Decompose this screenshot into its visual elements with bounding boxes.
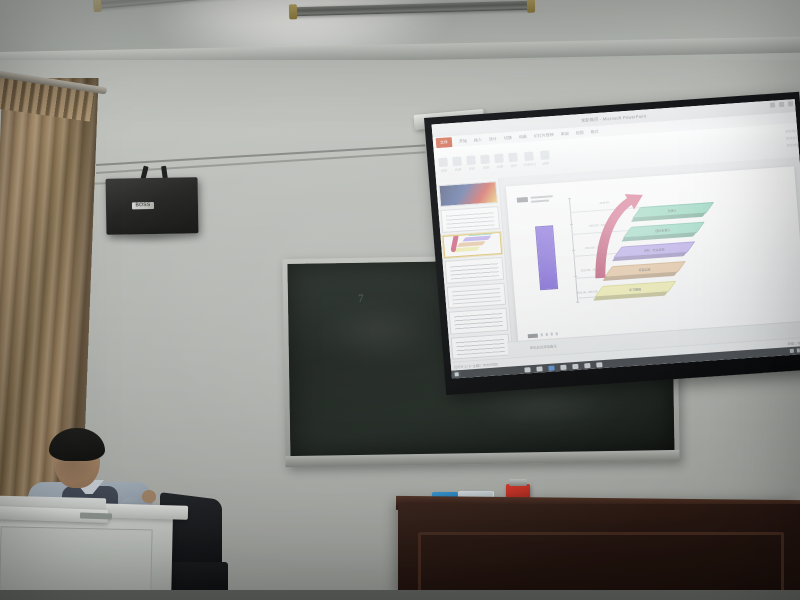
ribbon-group-paragraph[interactable]: 段落	[480, 154, 490, 170]
mail-icon[interactable]	[572, 363, 578, 368]
speaker-shadow	[104, 232, 200, 242]
current-slide[interactable]: 2016.09 - 2015.09 - 2016.06 2014.09 - 20…	[506, 166, 800, 346]
start-icon[interactable]	[454, 372, 458, 376]
tab-file[interactable]: 文件	[436, 137, 453, 148]
thumbnail-slide-1[interactable]: 1	[438, 181, 498, 207]
ribbon-group-new-slide[interactable]: 新建	[452, 156, 462, 172]
slide-legend	[517, 195, 553, 203]
ribbon-group-font[interactable]: 字体	[466, 155, 476, 171]
network-icon[interactable]	[790, 349, 794, 353]
powerpoint-icon[interactable]	[548, 365, 554, 370]
media-icon[interactable]	[596, 362, 602, 367]
thumbnail-preview-stairs	[448, 236, 496, 254]
window-title: 求职简历 - Microsoft PowerPoint	[581, 113, 647, 124]
tube-cap-left-2	[93, 0, 102, 12]
slide-footer	[528, 332, 558, 338]
ribbon-group-arrange[interactable]: 排列	[508, 152, 518, 168]
paste-icon[interactable]	[438, 157, 448, 167]
legend-text-lines	[531, 195, 553, 202]
thumbnail-preview-title	[440, 182, 498, 206]
shape-fill-label[interactable]: 形状填充	[785, 128, 798, 134]
arrange-icon[interactable]	[508, 152, 518, 162]
tab-design[interactable]: 设计	[489, 135, 497, 142]
lectern-front-panel	[0, 526, 153, 600]
folder-icon[interactable]	[560, 364, 566, 369]
chart-bar	[535, 225, 558, 290]
footer-tick-2	[546, 333, 548, 336]
tab-view[interactable]: 视图	[575, 129, 583, 136]
ribbon-group-editing[interactable]: 编辑	[540, 150, 550, 166]
stair-step-1-edge	[593, 292, 667, 301]
tab-review[interactable]: 审阅	[560, 130, 568, 137]
ribbon-group-font-label: 字体	[468, 165, 475, 170]
thumbnail-preview-text-6	[454, 312, 502, 330]
lectern	[0, 510, 173, 600]
footer-tick-1	[541, 334, 543, 337]
stair-step-4-label: 团队负责人	[656, 228, 671, 233]
drawing-icon[interactable]	[494, 153, 504, 163]
footer-swatch	[528, 333, 538, 338]
thumbnail-preview-table	[446, 211, 494, 229]
start-button[interactable]	[451, 370, 461, 379]
tab-home[interactable]: 开始	[459, 138, 467, 145]
thumbnail-number-2: 2	[440, 220, 442, 224]
window-controls[interactable]	[770, 101, 793, 108]
ribbon-group-quick-styles-label: 快速样式	[523, 161, 536, 167]
thumbnail-number-7: 7	[451, 347, 453, 351]
browser-icon[interactable]	[536, 366, 542, 371]
stair-step-1-label: 学习基础	[629, 287, 641, 292]
growth-arrow-icon	[580, 182, 660, 283]
shape-effects-label[interactable]: 形状效果	[786, 142, 799, 148]
thumbnail-slide-6[interactable]: 6	[449, 308, 509, 334]
shape-outline-label[interactable]: 形状轮廓	[786, 135, 799, 141]
status-right[interactable]: 视图 □ 缩放 66%	[787, 339, 800, 346]
thumbnail-number-6: 6	[449, 322, 451, 326]
thumbnail-preview-table-5	[452, 287, 500, 305]
thumbnail-slide-5[interactable]: 5	[447, 282, 507, 308]
maximize-icon[interactable]	[779, 102, 784, 107]
thumbnail-slide-2[interactable]: 2	[440, 206, 500, 232]
laptop-hinge	[80, 512, 112, 519]
thumbnail-number-3: 3	[443, 246, 445, 250]
thumbnail-slide-3[interactable]: 3	[443, 232, 503, 258]
thermos-cap	[509, 479, 527, 486]
quick-styles-icon[interactable]	[524, 151, 534, 161]
font-icon[interactable]	[466, 155, 476, 165]
ribbon-group-arrange-label: 排列	[510, 162, 517, 167]
chalk-smudge-1	[318, 302, 439, 364]
tab-transitions[interactable]: 切换	[504, 134, 512, 141]
editing-icon[interactable]	[540, 150, 550, 160]
legend-line-1	[531, 195, 553, 199]
projection-screen: 求职简历 - Microsoft PowerPoint 文件 开始 插入 设计 …	[424, 92, 800, 395]
wall-speaker: BOSS	[106, 177, 199, 235]
tab-animations[interactable]: 动画	[519, 133, 527, 140]
tab-format[interactable]: 格式	[590, 128, 598, 135]
volume-icon[interactable]	[796, 349, 800, 353]
paragraph-icon[interactable]	[480, 154, 490, 164]
thumbnail-number-4: 4	[445, 271, 447, 275]
footer-tick-4	[556, 333, 558, 336]
classroom-photo-scene: BOSS 7 求职简历 - Microsoft PowerPoint	[0, 0, 800, 600]
ribbon-group-paste-label: 粘贴	[440, 167, 447, 172]
speaker-brand-logo: BOSS	[132, 202, 154, 209]
presenter-hair	[49, 428, 105, 461]
thumbnail-slide-4[interactable]: 4	[445, 257, 505, 283]
ribbon-group-paste[interactable]: 粘贴	[438, 157, 448, 173]
chalk-mark: 7	[358, 293, 364, 305]
tube-cap-left	[289, 4, 297, 19]
ribbon-group-new-slide-label: 新建	[454, 166, 461, 171]
legend-line-2	[531, 199, 549, 202]
footer-tick-3	[551, 333, 553, 336]
system-tray[interactable]	[790, 348, 800, 353]
tab-insert[interactable]: 插入	[474, 137, 482, 144]
thumbnail-slide-7[interactable]: 7	[451, 333, 511, 359]
wooden-door[interactable]	[398, 504, 800, 600]
stair-step-1: 学习基础	[594, 281, 676, 298]
powerpoint-window: 求职简历 - Microsoft PowerPoint 文件 开始 插入 设计 …	[432, 99, 800, 379]
tab-slideshow[interactable]: 幻灯片放映	[534, 131, 554, 138]
screen-surface: 求职简历 - Microsoft PowerPoint 文件 开始 插入 设计 …	[432, 99, 800, 379]
ribbon-group-drawing[interactable]: 绘图	[494, 153, 504, 169]
thumbnail-preview-text-4	[450, 262, 498, 280]
legend-swatch	[517, 197, 528, 203]
thumbnail-number-5: 5	[447, 296, 449, 300]
minimize-icon[interactable]	[770, 102, 775, 107]
chat-icon[interactable]	[584, 362, 590, 367]
new-slide-icon[interactable]	[452, 156, 462, 166]
ribbon-group-editing-label: 编辑	[542, 160, 549, 165]
ribbon-group-quick-styles[interactable]: 快速样式	[522, 151, 536, 167]
ribbon-group-drawing-label: 绘图	[496, 163, 503, 168]
thumbnail-preview-text-7	[456, 338, 504, 356]
close-icon[interactable]	[788, 101, 793, 106]
tube-cap-right	[527, 0, 535, 13]
stair-step-5-label: 负责人	[669, 208, 678, 213]
explorer-icon[interactable]	[524, 367, 530, 372]
ribbon-group-paragraph-label: 段落	[482, 164, 489, 169]
floor-strip	[0, 590, 800, 600]
